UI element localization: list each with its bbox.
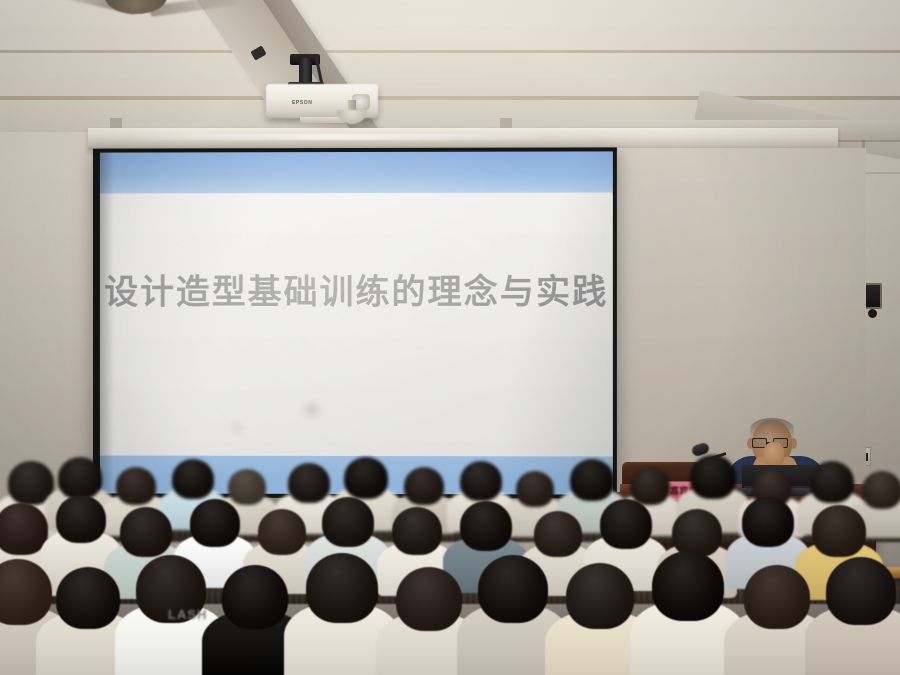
audience-head [306, 553, 378, 623]
screen-smudge [299, 402, 325, 418]
audience-head [812, 505, 866, 557]
audience-member [826, 557, 900, 675]
slide-title: 设计造型基础训练的理念与实践 [100, 264, 613, 313]
audience-head [570, 459, 614, 501]
audience-head [56, 567, 120, 629]
audience-head [534, 511, 582, 557]
screen-housing-highlight [120, 134, 540, 140]
audience-head [392, 507, 442, 555]
audience-head [322, 497, 374, 547]
audience-head [742, 497, 794, 547]
ceiling-seam [0, 96, 900, 100]
audience-head [190, 499, 240, 547]
screen-smudge [229, 422, 245, 434]
slide-body [100, 193, 613, 457]
audience-head [56, 495, 106, 543]
audience-head [672, 509, 722, 557]
audience-head [58, 457, 102, 499]
audience-head [460, 501, 512, 551]
audience-head [344, 457, 388, 499]
audience-head [652, 551, 724, 621]
shirt-graphic-text: LASH [168, 607, 207, 622]
audience-head [862, 471, 900, 509]
audience-head [222, 565, 288, 629]
presenter-hair [750, 418, 794, 440]
audience-head [0, 559, 52, 625]
audience-seating: LASH [0, 455, 900, 675]
presenter-hands [764, 442, 784, 466]
projection-screen: 设计造型基础训练的理念与实践 [93, 147, 617, 498]
ceiling-seam [0, 50, 900, 53]
audience-head [460, 461, 502, 501]
audience-head [744, 565, 810, 629]
audience-head [172, 459, 214, 499]
projector-brand-label: EPSON [292, 100, 313, 106]
audience-head [258, 509, 306, 555]
screen-surface: 设计造型基础训练的理念与实践 [100, 151, 613, 494]
audience-head [120, 507, 172, 557]
audience-head [600, 499, 652, 549]
audience-head [404, 467, 444, 505]
audience-head [478, 555, 548, 623]
slide-top-band [100, 151, 613, 193]
audience-head [826, 557, 896, 625]
audience-head [396, 567, 462, 631]
wall-speaker-knob [868, 309, 877, 318]
audience-head [566, 563, 634, 629]
audience-head [690, 455, 736, 499]
lecture-hall-photo: EPSON 设计造型基础训练的理念与实践 [0, 0, 900, 675]
